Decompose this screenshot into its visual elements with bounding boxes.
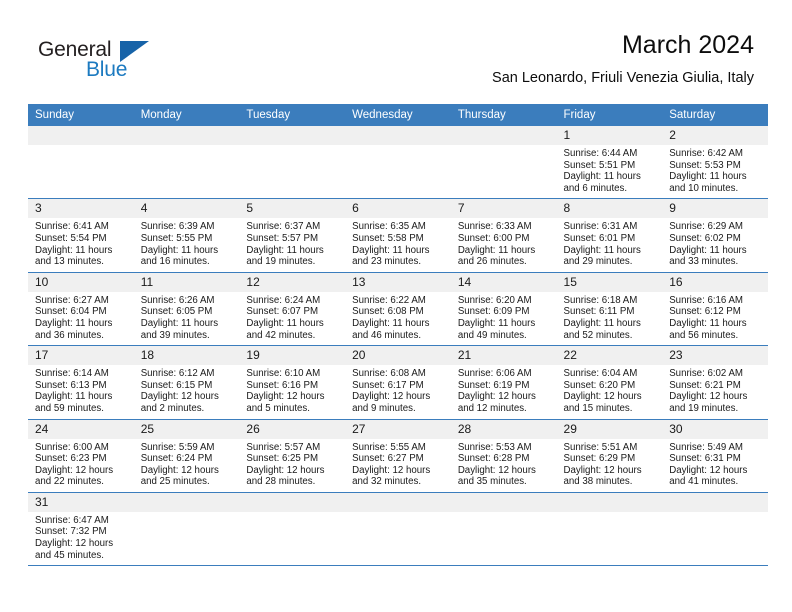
day-number: 15 [557,273,663,292]
calendar-day-cell[interactable]: 25Sunrise: 5:59 AMSunset: 6:24 PMDayligh… [134,419,240,492]
daylight-text: Daylight: 12 hours and 25 minutes. [141,465,235,488]
day-details: Sunrise: 5:59 AMSunset: 6:24 PMDaylight:… [134,439,240,492]
sunrise-text: Sunrise: 6:04 AM [564,368,658,380]
sunset-text: Sunset: 6:08 PM [352,306,446,318]
general-blue-logo[interactable]: General Blue [38,38,168,88]
calendar-day-cell-empty [134,492,240,565]
day-number: 9 [662,199,768,218]
calendar-day-cell[interactable]: 23Sunrise: 6:02 AMSunset: 6:21 PMDayligh… [662,346,768,419]
calendar-week-row: 17Sunrise: 6:14 AMSunset: 6:13 PMDayligh… [28,346,768,419]
day-details: Sunrise: 6:24 AMSunset: 6:07 PMDaylight:… [239,292,345,345]
sunrise-text: Sunrise: 5:59 AM [141,442,235,454]
sunrise-text: Sunrise: 6:08 AM [352,368,446,380]
weekday-header-sunday: Sunday [28,104,134,126]
sunrise-text: Sunrise: 6:14 AM [35,368,129,380]
sunset-text: Sunset: 6:13 PM [35,380,129,392]
sunset-text: Sunset: 6:15 PM [141,380,235,392]
sunset-text: Sunset: 5:54 PM [35,233,129,245]
sunrise-text: Sunrise: 6:35 AM [352,221,446,233]
sunrise-text: Sunrise: 5:57 AM [246,442,340,454]
day-details: Sunrise: 6:08 AMSunset: 6:17 PMDaylight:… [345,365,451,418]
calendar-day-cell[interactable]: 15Sunrise: 6:18 AMSunset: 6:11 PMDayligh… [557,272,663,345]
calendar-day-cell[interactable]: 3Sunrise: 6:41 AMSunset: 5:54 PMDaylight… [28,199,134,272]
day-number [134,126,240,145]
sunset-text: Sunset: 6:02 PM [669,233,763,245]
calendar-day-cell[interactable]: 8Sunrise: 6:31 AMSunset: 6:01 PMDaylight… [557,199,663,272]
day-number: 10 [28,273,134,292]
daylight-text: Daylight: 11 hours and 6 minutes. [564,171,658,194]
day-number: 14 [451,273,557,292]
daylight-text: Daylight: 12 hours and 5 minutes. [246,391,340,414]
sunrise-text: Sunrise: 6:26 AM [141,295,235,307]
sunrise-text: Sunrise: 6:41 AM [35,221,129,233]
sunrise-text: Sunrise: 6:31 AM [564,221,658,233]
day-details: Sunrise: 6:06 AMSunset: 6:19 PMDaylight:… [451,365,557,418]
daylight-text: Daylight: 11 hours and 23 minutes. [352,245,446,268]
day-details: Sunrise: 6:10 AMSunset: 6:16 PMDaylight:… [239,365,345,418]
sunrise-text: Sunrise: 5:55 AM [352,442,446,454]
daylight-text: Daylight: 11 hours and 16 minutes. [141,245,235,268]
calendar-week-row: 10Sunrise: 6:27 AMSunset: 6:04 PMDayligh… [28,272,768,345]
day-number: 16 [662,273,768,292]
calendar-day-cell[interactable]: 4Sunrise: 6:39 AMSunset: 5:55 PMDaylight… [134,199,240,272]
calendar-day-cell[interactable]: 12Sunrise: 6:24 AMSunset: 6:07 PMDayligh… [239,272,345,345]
daylight-text: Daylight: 11 hours and 29 minutes. [564,245,658,268]
sunset-text: Sunset: 7:32 PM [35,526,129,538]
day-number [239,126,345,145]
calendar-week-row: 31Sunrise: 6:47 AMSunset: 7:32 PMDayligh… [28,492,768,565]
sunset-text: Sunset: 5:58 PM [352,233,446,245]
day-number: 1 [557,126,663,145]
calendar-day-cell[interactable]: 19Sunrise: 6:10 AMSunset: 6:16 PMDayligh… [239,346,345,419]
day-number: 12 [239,273,345,292]
daylight-text: Daylight: 12 hours and 38 minutes. [564,465,658,488]
day-details: Sunrise: 6:44 AMSunset: 5:51 PMDaylight:… [557,145,663,198]
sunset-text: Sunset: 5:57 PM [246,233,340,245]
day-details: Sunrise: 6:22 AMSunset: 6:08 PMDaylight:… [345,292,451,345]
sunset-text: Sunset: 6:24 PM [141,453,235,465]
sunrise-text: Sunrise: 6:24 AM [246,295,340,307]
calendar-day-cell-empty [28,126,134,199]
calendar-day-cell-empty [662,492,768,565]
sunset-text: Sunset: 6:31 PM [669,453,763,465]
sunrise-text: Sunrise: 6:06 AM [458,368,552,380]
day-number: 21 [451,346,557,365]
day-number: 29 [557,420,663,439]
sunset-text: Sunset: 5:51 PM [564,160,658,172]
calendar-day-cell[interactable]: 1Sunrise: 6:44 AMSunset: 5:51 PMDaylight… [557,126,663,199]
calendar-day-cell[interactable]: 26Sunrise: 5:57 AMSunset: 6:25 PMDayligh… [239,419,345,492]
calendar-day-cell[interactable]: 27Sunrise: 5:55 AMSunset: 6:27 PMDayligh… [345,419,451,492]
sunset-text: Sunset: 6:27 PM [352,453,446,465]
day-details: Sunrise: 6:18 AMSunset: 6:11 PMDaylight:… [557,292,663,345]
page-header: General Blue March 2024 San Leonardo, Fr… [0,0,792,98]
weekday-header-wednesday: Wednesday [345,104,451,126]
calendar-day-cell[interactable]: 11Sunrise: 6:26 AMSunset: 6:05 PMDayligh… [134,272,240,345]
calendar-body: 1Sunrise: 6:44 AMSunset: 5:51 PMDaylight… [28,126,768,566]
day-details: Sunrise: 6:33 AMSunset: 6:00 PMDaylight:… [451,218,557,271]
daylight-text: Daylight: 12 hours and 9 minutes. [352,391,446,414]
calendar-week-row: 3Sunrise: 6:41 AMSunset: 5:54 PMDaylight… [28,199,768,272]
sunset-text: Sunset: 6:01 PM [564,233,658,245]
sunrise-text: Sunrise: 6:16 AM [669,295,763,307]
page-title: March 2024 [492,32,754,60]
weekday-header-monday: Monday [134,104,240,126]
day-number: 13 [345,273,451,292]
sunrise-text: Sunrise: 6:37 AM [246,221,340,233]
calendar-day-cell-empty [345,126,451,199]
sunset-text: Sunset: 6:12 PM [669,306,763,318]
sunrise-text: Sunrise: 6:33 AM [458,221,552,233]
calendar-week-row: 24Sunrise: 6:00 AMSunset: 6:23 PMDayligh… [28,419,768,492]
calendar-day-cell[interactable]: 7Sunrise: 6:33 AMSunset: 6:00 PMDaylight… [451,199,557,272]
calendar-day-cell[interactable]: 13Sunrise: 6:22 AMSunset: 6:08 PMDayligh… [345,272,451,345]
day-details: Sunrise: 6:31 AMSunset: 6:01 PMDaylight:… [557,218,663,271]
daylight-text: Daylight: 11 hours and 10 minutes. [669,171,763,194]
sunset-text: Sunset: 6:25 PM [246,453,340,465]
day-details: Sunrise: 6:02 AMSunset: 6:21 PMDaylight:… [662,365,768,418]
daylight-text: Daylight: 12 hours and 15 minutes. [564,391,658,414]
daylight-text: Daylight: 11 hours and 13 minutes. [35,245,129,268]
daylight-text: Daylight: 11 hours and 56 minutes. [669,318,763,341]
calendar-day-cell-empty [451,492,557,565]
day-number: 18 [134,346,240,365]
daylight-text: Daylight: 12 hours and 41 minutes. [669,465,763,488]
calendar-page: General Blue March 2024 San Leonardo, Fr… [0,0,792,612]
day-number [557,493,663,512]
sunset-text: Sunset: 6:21 PM [669,380,763,392]
sunset-text: Sunset: 6:07 PM [246,306,340,318]
day-number [451,493,557,512]
calendar-day-cell[interactable]: 31Sunrise: 6:47 AMSunset: 7:32 PMDayligh… [28,492,134,565]
calendar-day-cell[interactable]: 24Sunrise: 6:00 AMSunset: 6:23 PMDayligh… [28,419,134,492]
sunrise-text: Sunrise: 6:20 AM [458,295,552,307]
daylight-text: Daylight: 12 hours and 35 minutes. [458,465,552,488]
logo-text-blue: Blue [86,58,127,82]
calendar-day-cell[interactable]: 20Sunrise: 6:08 AMSunset: 6:17 PMDayligh… [345,346,451,419]
sunset-text: Sunset: 6:04 PM [35,306,129,318]
day-number: 17 [28,346,134,365]
day-details: Sunrise: 6:29 AMSunset: 6:02 PMDaylight:… [662,218,768,271]
day-details: Sunrise: 6:26 AMSunset: 6:05 PMDaylight:… [134,292,240,345]
day-details: Sunrise: 5:55 AMSunset: 6:27 PMDaylight:… [345,439,451,492]
calendar-day-cell[interactable]: 30Sunrise: 5:49 AMSunset: 6:31 PMDayligh… [662,419,768,492]
calendar-day-cell[interactable]: 18Sunrise: 6:12 AMSunset: 6:15 PMDayligh… [134,346,240,419]
daylight-text: Daylight: 11 hours and 59 minutes. [35,391,129,414]
daylight-text: Daylight: 11 hours and 19 minutes. [246,245,340,268]
sunrise-text: Sunrise: 6:00 AM [35,442,129,454]
day-details: Sunrise: 6:39 AMSunset: 5:55 PMDaylight:… [134,218,240,271]
day-number [662,493,768,512]
title-block: March 2024 San Leonardo, Friuli Venezia … [492,32,754,86]
sunrise-text: Sunrise: 6:02 AM [669,368,763,380]
sunrise-text: Sunrise: 5:49 AM [669,442,763,454]
calendar-day-cell-empty [134,126,240,199]
calendar-day-cell[interactable]: 17Sunrise: 6:14 AMSunset: 6:13 PMDayligh… [28,346,134,419]
calendar-day-cell[interactable]: 29Sunrise: 5:51 AMSunset: 6:29 PMDayligh… [557,419,663,492]
calendar-header-row: Sunday Monday Tuesday Wednesday Thursday… [28,104,768,126]
calendar-day-cell[interactable]: 10Sunrise: 6:27 AMSunset: 6:04 PMDayligh… [28,272,134,345]
daylight-text: Daylight: 11 hours and 36 minutes. [35,318,129,341]
sunset-text: Sunset: 6:11 PM [564,306,658,318]
sunset-text: Sunset: 6:09 PM [458,306,552,318]
sunrise-text: Sunrise: 6:22 AM [352,295,446,307]
day-number: 4 [134,199,240,218]
day-number: 30 [662,420,768,439]
sunset-text: Sunset: 6:17 PM [352,380,446,392]
calendar-day-cell-empty [239,492,345,565]
daylight-text: Daylight: 11 hours and 39 minutes. [141,318,235,341]
sunset-text: Sunset: 6:16 PM [246,380,340,392]
day-details: Sunrise: 6:27 AMSunset: 6:04 PMDaylight:… [28,292,134,345]
day-details: Sunrise: 5:49 AMSunset: 6:31 PMDaylight:… [662,439,768,492]
day-number: 19 [239,346,345,365]
day-details: Sunrise: 6:37 AMSunset: 5:57 PMDaylight:… [239,218,345,271]
sunrise-text: Sunrise: 6:29 AM [669,221,763,233]
daylight-text: Daylight: 12 hours and 45 minutes. [35,538,129,561]
sunrise-text: Sunrise: 6:12 AM [141,368,235,380]
day-number: 3 [28,199,134,218]
day-details: Sunrise: 6:35 AMSunset: 5:58 PMDaylight:… [345,218,451,271]
day-details: Sunrise: 6:16 AMSunset: 6:12 PMDaylight:… [662,292,768,345]
day-details: Sunrise: 6:00 AMSunset: 6:23 PMDaylight:… [28,439,134,492]
calendar-day-cell[interactable]: 5Sunrise: 6:37 AMSunset: 5:57 PMDaylight… [239,199,345,272]
day-number: 20 [345,346,451,365]
sunrise-text: Sunrise: 6:44 AM [564,148,658,160]
day-details: Sunrise: 6:04 AMSunset: 6:20 PMDaylight:… [557,365,663,418]
sunset-text: Sunset: 5:53 PM [669,160,763,172]
calendar-day-cell[interactable]: 16Sunrise: 6:16 AMSunset: 6:12 PMDayligh… [662,272,768,345]
calendar-day-cell[interactable]: 28Sunrise: 5:53 AMSunset: 6:28 PMDayligh… [451,419,557,492]
calendar-day-cell[interactable]: 21Sunrise: 6:06 AMSunset: 6:19 PMDayligh… [451,346,557,419]
calendar-day-cell-empty [557,492,663,565]
day-number: 31 [28,493,134,512]
day-number: 23 [662,346,768,365]
sunset-text: Sunset: 5:55 PM [141,233,235,245]
daylight-text: Daylight: 11 hours and 26 minutes. [458,245,552,268]
day-number: 7 [451,199,557,218]
calendar-day-cell[interactable]: 14Sunrise: 6:20 AMSunset: 6:09 PMDayligh… [451,272,557,345]
weekday-header-saturday: Saturday [662,104,768,126]
day-number: 25 [134,420,240,439]
weekday-header-friday: Friday [557,104,663,126]
calendar-week-row: 1Sunrise: 6:44 AMSunset: 5:51 PMDaylight… [28,126,768,199]
daylight-text: Daylight: 11 hours and 33 minutes. [669,245,763,268]
daylight-text: Daylight: 12 hours and 19 minutes. [669,391,763,414]
weekday-header-thursday: Thursday [451,104,557,126]
sunset-text: Sunset: 6:05 PM [141,306,235,318]
day-number: 5 [239,199,345,218]
sunrise-text: Sunrise: 6:10 AM [246,368,340,380]
calendar-day-cell-empty [451,126,557,199]
calendar-day-cell-empty [239,126,345,199]
sunrise-text: Sunrise: 5:51 AM [564,442,658,454]
day-details: Sunrise: 5:51 AMSunset: 6:29 PMDaylight:… [557,439,663,492]
day-number: 26 [239,420,345,439]
day-details: Sunrise: 6:12 AMSunset: 6:15 PMDaylight:… [134,365,240,418]
day-number [28,126,134,145]
calendar-day-cell[interactable]: 2Sunrise: 6:42 AMSunset: 5:53 PMDaylight… [662,126,768,199]
daylight-text: Daylight: 11 hours and 49 minutes. [458,318,552,341]
day-details: Sunrise: 6:41 AMSunset: 5:54 PMDaylight:… [28,218,134,271]
daylight-text: Daylight: 12 hours and 2 minutes. [141,391,235,414]
sunset-text: Sunset: 6:20 PM [564,380,658,392]
day-number: 8 [557,199,663,218]
day-number: 24 [28,420,134,439]
day-details: Sunrise: 5:53 AMSunset: 6:28 PMDaylight:… [451,439,557,492]
location-subtitle: San Leonardo, Friuli Venezia Giulia, Ita… [492,70,754,86]
calendar-day-cell[interactable]: 6Sunrise: 6:35 AMSunset: 5:58 PMDaylight… [345,199,451,272]
daylight-text: Daylight: 12 hours and 32 minutes. [352,465,446,488]
sunset-text: Sunset: 6:19 PM [458,380,552,392]
day-number [239,493,345,512]
weekday-header-tuesday: Tuesday [239,104,345,126]
calendar-day-cell[interactable]: 22Sunrise: 6:04 AMSunset: 6:20 PMDayligh… [557,346,663,419]
day-details: Sunrise: 6:20 AMSunset: 6:09 PMDaylight:… [451,292,557,345]
sunset-text: Sunset: 6:29 PM [564,453,658,465]
daylight-text: Daylight: 11 hours and 42 minutes. [246,318,340,341]
sunrise-text: Sunrise: 6:42 AM [669,148,763,160]
daylight-text: Daylight: 11 hours and 46 minutes. [352,318,446,341]
day-number: 2 [662,126,768,145]
day-details: Sunrise: 6:47 AMSunset: 7:32 PMDaylight:… [28,512,134,565]
daylight-text: Daylight: 11 hours and 52 minutes. [564,318,658,341]
calendar-day-cell-empty [345,492,451,565]
day-number [345,126,451,145]
sunrise-text: Sunrise: 6:27 AM [35,295,129,307]
calendar-day-cell[interactable]: 9Sunrise: 6:29 AMSunset: 6:02 PMDaylight… [662,199,768,272]
sunrise-text: Sunrise: 6:39 AM [141,221,235,233]
daylight-text: Daylight: 12 hours and 28 minutes. [246,465,340,488]
sunrise-text: Sunrise: 6:47 AM [35,515,129,527]
daylight-text: Daylight: 12 hours and 22 minutes. [35,465,129,488]
day-details: Sunrise: 5:57 AMSunset: 6:25 PMDaylight:… [239,439,345,492]
day-number: 27 [345,420,451,439]
sunrise-text: Sunrise: 6:18 AM [564,295,658,307]
day-number: 22 [557,346,663,365]
sunrise-text: Sunrise: 5:53 AM [458,442,552,454]
day-number [451,126,557,145]
day-number: 6 [345,199,451,218]
day-number: 11 [134,273,240,292]
sunset-text: Sunset: 6:28 PM [458,453,552,465]
day-details: Sunrise: 6:42 AMSunset: 5:53 PMDaylight:… [662,145,768,198]
day-number: 28 [451,420,557,439]
sunrise-sunset-calendar: Sunday Monday Tuesday Wednesday Thursday… [28,104,768,566]
sunset-text: Sunset: 6:23 PM [35,453,129,465]
day-details: Sunrise: 6:14 AMSunset: 6:13 PMDaylight:… [28,365,134,418]
daylight-text: Daylight: 12 hours and 12 minutes. [458,391,552,414]
sunset-text: Sunset: 6:00 PM [458,233,552,245]
day-number [134,493,240,512]
day-number [345,493,451,512]
